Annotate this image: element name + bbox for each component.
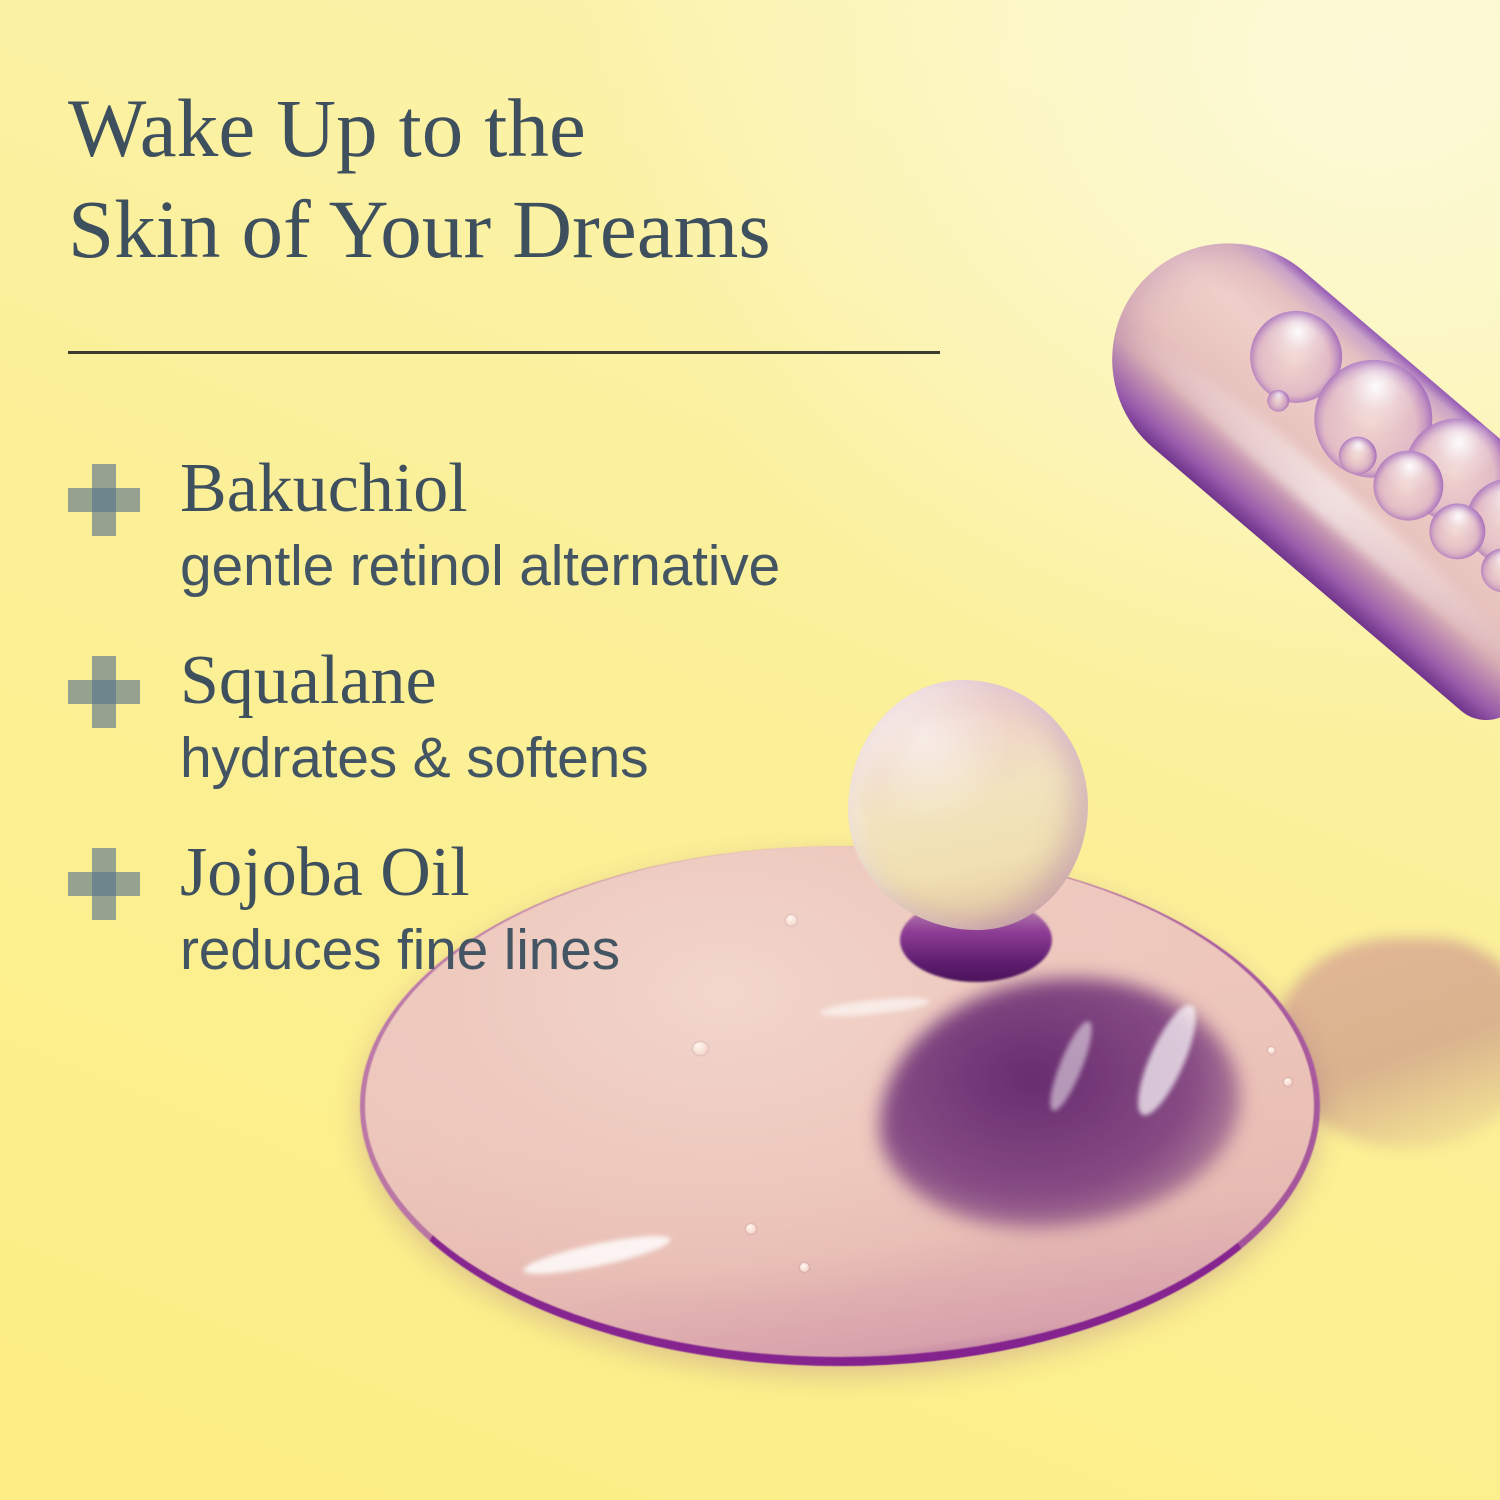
feature-title: Squalane [180, 644, 1068, 718]
page-title: Wake Up to the Skin of Your Dreams [68, 78, 1018, 281]
feature-title: Bakuchiol [180, 452, 1068, 526]
list-item: Bakuchiol gentle retinol alternative [68, 452, 1068, 598]
feature-subtitle: hydrates & softens [180, 727, 1068, 790]
list-item: Jojoba Oil reduces fine lines [68, 836, 1068, 982]
headline-line-2: Skin of Your Dreams [68, 179, 1018, 280]
text-content: Wake Up to the Skin of Your Dreams Bakuc… [0, 0, 1500, 1500]
divider [68, 351, 940, 354]
feature-subtitle: gentle retinol alternative [180, 535, 1068, 598]
plus-icon [68, 848, 140, 920]
list-item: Squalane hydrates & softens [68, 644, 1068, 790]
plus-icon [68, 656, 140, 728]
feature-list: Bakuchiol gentle retinol alternative Squ… [68, 452, 1068, 982]
product-infographic: Wake Up to the Skin of Your Dreams Bakuc… [0, 0, 1500, 1500]
headline-line-1: Wake Up to the [68, 82, 586, 174]
feature-subtitle: reduces fine lines [180, 919, 1068, 982]
plus-icon [68, 464, 140, 536]
feature-title: Jojoba Oil [180, 836, 1068, 910]
